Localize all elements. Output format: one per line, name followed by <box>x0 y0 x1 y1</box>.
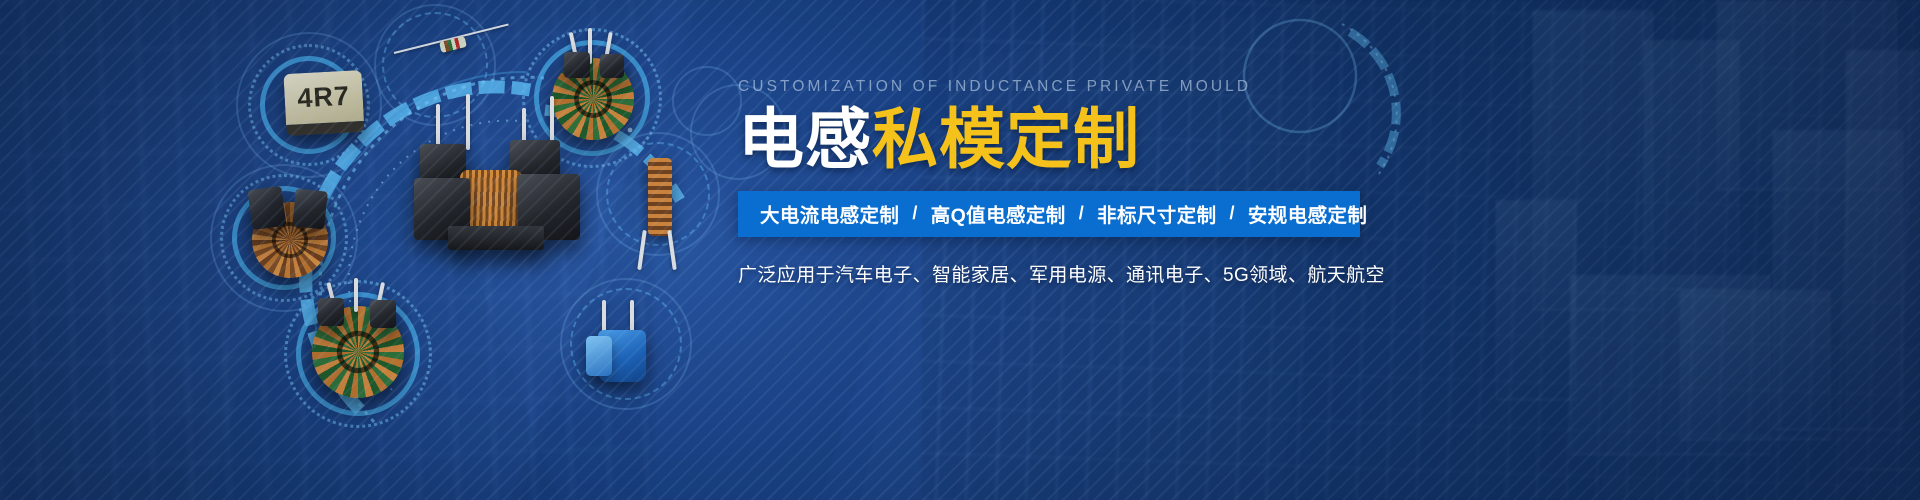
banner-copy-block: CUSTOMIZATION OF INDUCTANCE PRIVATE MOUL… <box>738 78 1378 287</box>
feature-item-3[interactable]: 非标尺寸定制 <box>1097 199 1216 228</box>
feature-item-1[interactable]: 大电流电感定制 <box>760 199 899 228</box>
feature-highlight-bar: 大电流电感定制 / 高Q值电感定制 / 非标尺寸定制 / 安规电感定制 <box>738 191 1360 237</box>
feature-items-list: 大电流电感定制 / 高Q值电感定制 / 非标尺寸定制 / 安规电感定制 <box>760 199 1367 228</box>
feature-separator-2: / <box>1066 203 1097 224</box>
headline-gold-text: 私模定制 <box>872 102 1140 176</box>
feature-separator-1: / <box>899 203 930 224</box>
feature-separator-3: / <box>1217 203 1248 224</box>
feature-item-2[interactable]: 高Q值电感定制 <box>931 199 1066 228</box>
tech-arc-decoration <box>330 70 750 470</box>
banner-headline: 电感私模定制 <box>738 105 1378 174</box>
product-hero-banner: 4R7 <box>0 0 1920 500</box>
feature-item-4[interactable]: 安规电感定制 <box>1248 199 1367 228</box>
headline-white-text: 电感 <box>738 102 872 176</box>
banner-tagline: 广泛应用于汽车电子、智能家居、军用电源、通讯电子、5G领域、航天航空 <box>738 260 1378 287</box>
banner-eyebrow-english: CUSTOMIZATION OF INDUCTANCE PRIVATE MOUL… <box>738 78 1378 96</box>
